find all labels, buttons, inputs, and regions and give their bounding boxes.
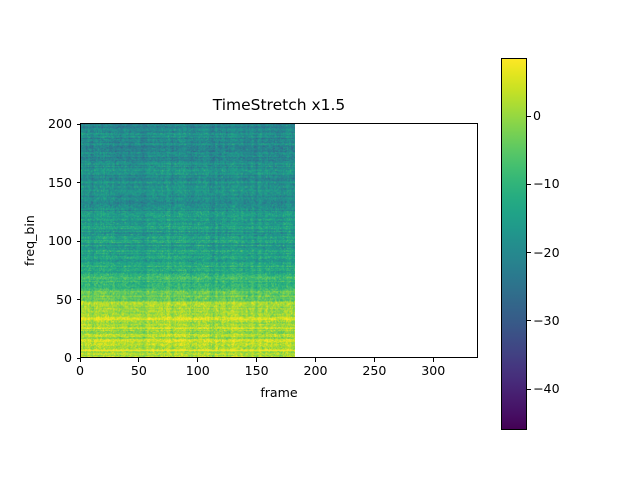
x-tick-label: 200 [303, 364, 327, 378]
x-tick-mark [374, 358, 375, 362]
y-tick-mark [77, 124, 81, 125]
page-title: TimeStretch x1.5 [80, 96, 478, 114]
colorbar-gradient [502, 59, 526, 429]
plot-area [80, 123, 478, 358]
matplotlib-figure: TimeStretch x1.5 050100150200250300 0501… [0, 0, 640, 480]
colorbar-tick-mark [527, 252, 531, 253]
x-tick-mark [80, 358, 81, 362]
colorbar-tick-label: −30 [533, 314, 560, 328]
colorbar-tick-label: −20 [533, 246, 560, 260]
colorbar-tick-mark [527, 116, 531, 117]
x-tick-label: 50 [131, 364, 147, 378]
x-tick-label: 0 [76, 364, 84, 378]
colorbar-tick-label: 0 [533, 109, 541, 123]
colorbar-tick-mark [527, 389, 531, 390]
spectrogram-canvas [81, 124, 295, 357]
x-axis-label: frame [80, 385, 478, 400]
colorbar-tick-mark [527, 184, 531, 185]
spectrogram-heatmap [81, 124, 295, 357]
x-tick-mark [138, 358, 139, 362]
x-tick-mark [433, 358, 434, 362]
y-tick-mark [77, 241, 81, 242]
x-tick-mark [197, 358, 198, 362]
y-tick-mark [77, 299, 81, 300]
y-tick-mark [77, 182, 81, 183]
colorbar-tick-label: −10 [533, 177, 560, 191]
x-tick-label: 250 [362, 364, 386, 378]
x-tick-mark [256, 358, 257, 362]
x-tick-mark [315, 358, 316, 362]
x-tick-label: 150 [245, 364, 269, 378]
colorbar-tick-mark [527, 320, 531, 321]
y-axis-label: freq_bin [22, 123, 38, 358]
y-tick-mark [77, 358, 81, 359]
x-tick-label: 300 [421, 364, 445, 378]
x-tick-label: 100 [186, 364, 210, 378]
colorbar-tick-label: −40 [533, 382, 560, 396]
colorbar [501, 58, 527, 430]
